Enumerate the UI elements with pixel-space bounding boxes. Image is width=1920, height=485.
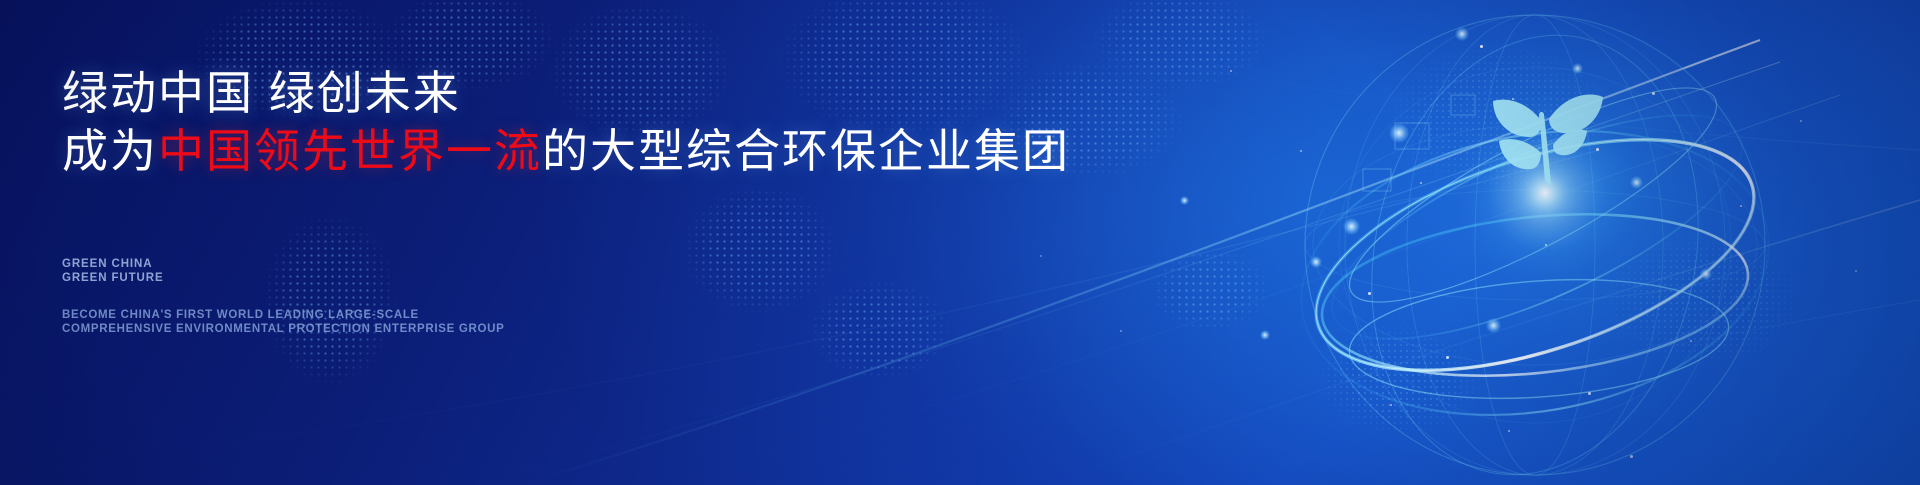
hero-banner: 绿动中国 绿创未来 成为中国领先世界一流的大型综合环保企业集团 GREEN CH… [0,0,1920,485]
vignette-overlay [0,0,1920,485]
